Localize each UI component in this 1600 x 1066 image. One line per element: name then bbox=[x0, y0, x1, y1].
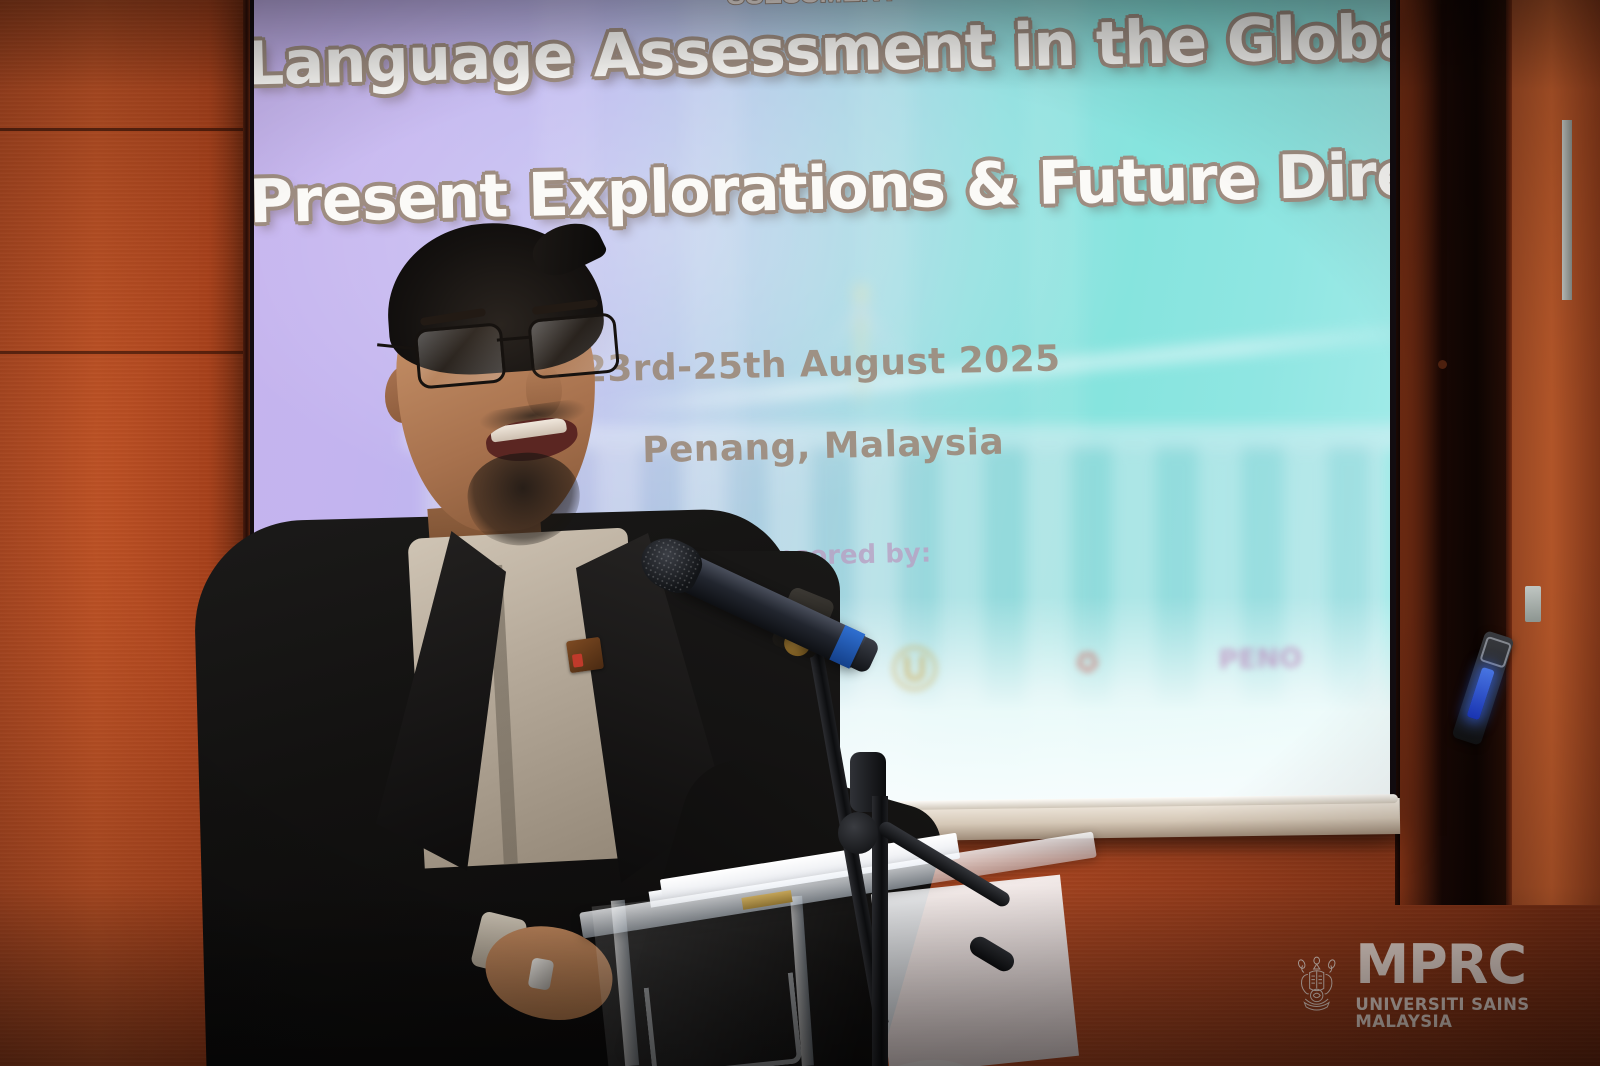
red-logo: ✪ bbox=[1042, 623, 1134, 703]
eyeglass-lens-left bbox=[414, 322, 507, 389]
wall-seam-horizontal-upper bbox=[0, 128, 245, 131]
usm-crest-icon bbox=[1292, 951, 1341, 1017]
wall-panel-right bbox=[1512, 0, 1600, 905]
lapel-badge-emblem bbox=[572, 653, 584, 667]
photograph-scene: SSESSMENT Language Assessment in the Glo… bbox=[0, 0, 1600, 1066]
mprc-wordmark: MPRC UNIVERSITI SAINS MALAYSIA bbox=[1355, 938, 1600, 1030]
wall-screw bbox=[1438, 360, 1447, 369]
lectern-shelf bbox=[644, 972, 803, 1066]
wall-device-led bbox=[1466, 667, 1494, 720]
lectern-front-panel bbox=[871, 875, 1079, 1066]
wall-recess-highlight bbox=[1400, 0, 1442, 905]
u-logo: Ⓤ bbox=[869, 627, 961, 707]
presenter bbox=[180, 215, 820, 1066]
peno-logo: PENO bbox=[1214, 619, 1306, 699]
mprc-subtitle: UNIVERSITI SAINS MALAYSIA bbox=[1355, 997, 1600, 1030]
mic-stand-joint bbox=[838, 812, 878, 854]
wall-mount-strip bbox=[1562, 120, 1572, 300]
mprc-watermark: MPRC UNIVERSITI SAINS MALAYSIA bbox=[1292, 938, 1600, 1030]
wall-seam-vertical-right-outer bbox=[1506, 0, 1512, 905]
lapel-badge bbox=[566, 637, 604, 673]
mprc-brand: MPRC bbox=[1355, 938, 1600, 992]
wall-plate bbox=[1525, 586, 1541, 622]
